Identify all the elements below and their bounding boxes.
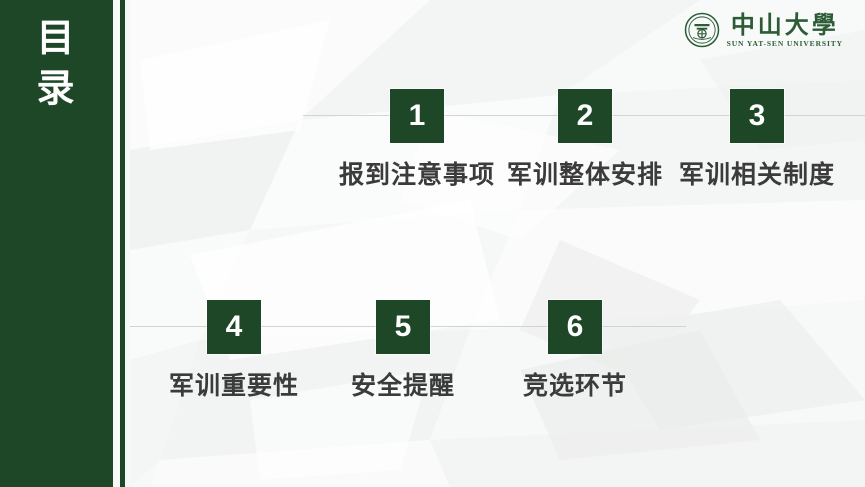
toc-item-2-number: 2 [558,89,612,143]
toc-item-3-label: 军训相关制度 [679,155,835,191]
toc-item-5-number: 5 [376,300,430,354]
toc-item-1-label: 报到注意事项 [339,155,495,191]
logo-name-en: SUN YAT-SEN UNIVERSITY [727,40,843,48]
toc-item-5-label: 安全提醒 [351,366,455,402]
toc-item-4[interactable]: 4 军训重要性 [207,300,261,354]
toc-item-2-label: 军训整体安排 [507,155,663,191]
toc-item-3-number: 3 [730,89,784,143]
logo-name-cn: 中山大學 [731,13,839,37]
toc-item-1-number: 1 [390,89,444,143]
toc-item-4-number: 4 [207,300,261,354]
logo-text-block: 中山大學 SUN YAT-SEN UNIVERSITY [727,13,843,48]
page-title: 目 录 [0,14,113,114]
university-logo: 中山大學 SUN YAT-SEN UNIVERSITY [684,12,843,48]
low-poly-background [0,0,865,487]
toc-item-6[interactable]: 6 竞选环节 [548,300,602,354]
toc-item-3[interactable]: 3 军训相关制度 [730,89,784,143]
toc-item-1[interactable]: 1 报到注意事项 [390,89,444,143]
page-title-char-2: 录 [0,64,113,114]
toc-item-4-label: 军训重要性 [169,366,299,402]
toc-item-6-label: 竞选环节 [523,366,627,402]
sidebar-panel: 目 录 [0,0,113,487]
slide-root: 目 录 中山大學 SUN YAT-SEN UNIVERSITY 1 报到注意事项… [0,0,865,487]
sidebar-accent-rule [120,0,125,487]
university-seal-icon [684,12,720,48]
page-title-char-1: 目 [0,14,113,64]
toc-item-2[interactable]: 2 军训整体安排 [558,89,612,143]
toc-item-6-number: 6 [548,300,602,354]
toc-item-5[interactable]: 5 安全提醒 [376,300,430,354]
